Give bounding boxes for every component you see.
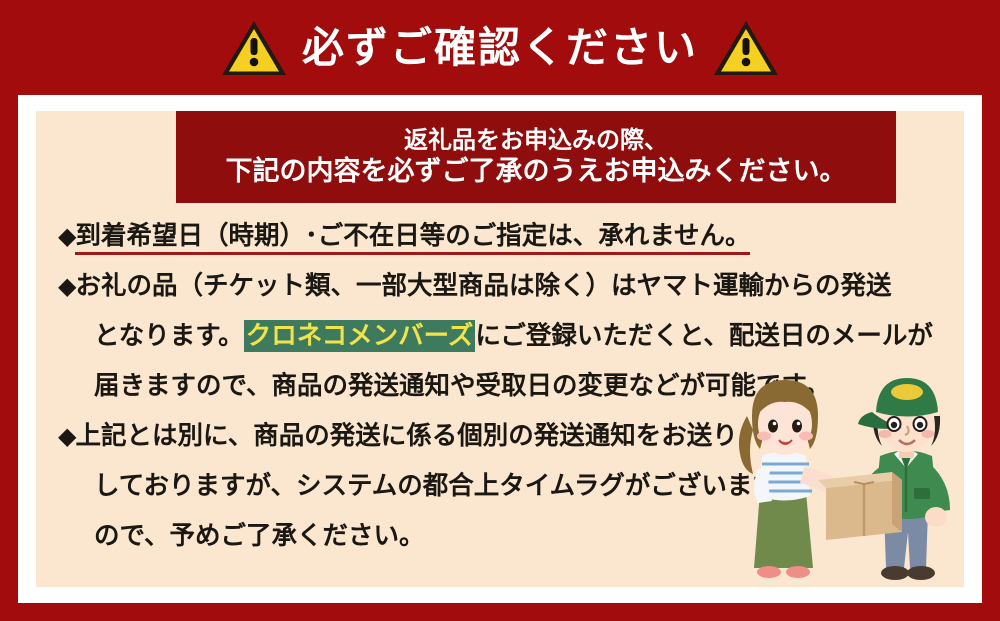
note-2-line-1: お礼の品（チケット類、一部大型商品は除く）はヤマト運輸からの発送	[75, 271, 891, 301]
bullet-diamond-icon: ◆	[58, 422, 75, 450]
page-title: 必ずご確認ください	[302, 27, 698, 69]
note-item-1: ◆到着希望日（時期）･ご不在日等のご指定は、承れません。	[58, 211, 942, 261]
content-panel: 返礼品をお申込みの際、 下記の内容を必ずご了承のうえお申込みください。 ◆到着希…	[36, 111, 964, 587]
announcement-line-1: 返礼品をお申込みの際、	[404, 125, 668, 155]
bullet-diamond-icon: ◆	[58, 272, 75, 300]
announcement-block: 返礼品をお申込みの際、 下記の内容を必ずご了承のうえお申込みください。	[176, 111, 896, 203]
warning-triangle-icon-left	[220, 18, 288, 78]
note-item-3-line-2: しておりますが、システムの都合上タイムラグがございます	[58, 461, 942, 511]
note-item-3-line-3: ので、予めご了承ください。	[58, 511, 942, 561]
header-band: 必ずご確認ください	[0, 0, 1000, 95]
note-3-line-2: しておりますが、システムの都合上タイムラグがございます	[94, 471, 778, 501]
notice-banner-screen: 必ずご確認ください 返礼品をお申込みの際、 下記の内容を必ずご了承のうえお申込み…	[0, 0, 1000, 621]
note-1-line-1: 到着希望日（時期）･ご不在日等のご指定は、承れません。	[75, 221, 750, 255]
kuroneko-members-highlight[interactable]: クロネコメンバーズ	[244, 320, 476, 352]
bullet-diamond-icon: ◆	[58, 222, 75, 250]
note-item-3-line-1: ◆上記とは別に、商品の発送に係る個別の発送通知をお送り	[58, 411, 942, 461]
warning-triangle-icon-right	[712, 18, 780, 78]
note-2-line-3: 届きますので、商品の発送通知や受取日の変更などが可能です。	[94, 371, 830, 401]
note-item-2-line-2: となります。クロネコメンバーズにご登録いただくと、配送日のメールが	[58, 311, 942, 361]
note-2-line-2-pre: となります。	[94, 321, 244, 351]
note-2-line-2-post: にご登録いただくと、配送日のメールが	[475, 321, 932, 351]
note-item-2-line-1: ◆お礼の品（チケット類、一部大型商品は除く）はヤマト運輸からの発送	[58, 261, 942, 311]
note-3-line-1: 上記とは別に、商品の発送に係る個別の発送通知をお送り	[75, 421, 737, 451]
note-3-line-3: ので、予めご了承ください。	[94, 521, 424, 551]
note-item-2-line-3: 届きますので、商品の発送通知や受取日の変更などが可能です。	[58, 361, 942, 411]
notes-list: ◆到着希望日（時期）･ご不在日等のご指定は、承れません。 ◆お礼の品（チケット類…	[58, 211, 942, 561]
announcement-line-2: 下記の内容を必ずご了承のうえお申込みください。	[226, 155, 847, 189]
